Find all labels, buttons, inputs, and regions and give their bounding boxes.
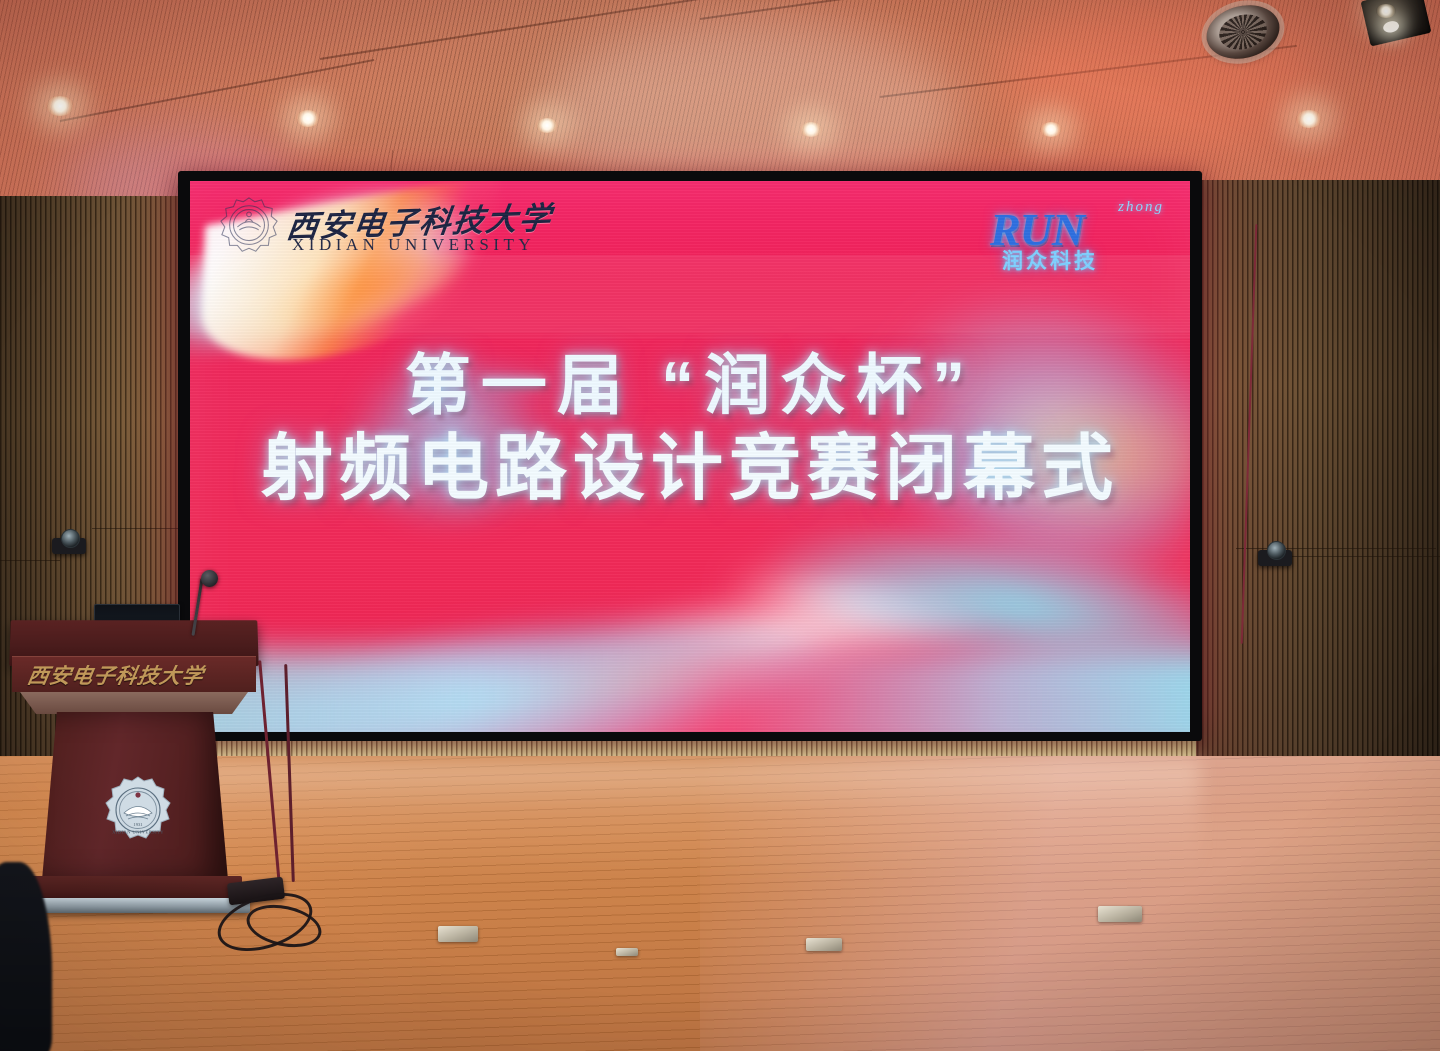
- screen-title-line1: 第一届 “润众杯”: [190, 351, 1190, 421]
- xidian-english-name: XIDIAN UNIVERSITY: [292, 235, 535, 255]
- floor-outlet: [1098, 906, 1142, 922]
- track-spotlight-fixture: [1361, 0, 1432, 46]
- floor-outlet: [438, 926, 478, 942]
- screen-title-block: 第一届 “润众杯” 射频电路设计竞赛闭幕式: [190, 351, 1190, 507]
- ceiling-downlight: [1296, 110, 1322, 128]
- right-wall-shading: [1192, 180, 1440, 770]
- runzhong-chinese-name: 润众科技: [1002, 245, 1098, 275]
- wall-camera-left: [52, 538, 86, 554]
- ceiling-downlight: [1376, 4, 1396, 18]
- podium-engraved-name: 西安电子科技大学: [26, 660, 236, 688]
- runzhong-logo: RUN zhong 润众科技: [988, 195, 1168, 273]
- ceiling-downlight: [1040, 122, 1062, 137]
- ceiling-downlight: [296, 110, 320, 127]
- podium-emblem-icon: 1931 XIDIAN UNIVERSITY: [102, 775, 174, 847]
- floor-screen-reflection: [190, 760, 1200, 880]
- svg-text:XIDIAN UNIVERSITY: XIDIAN UNIVERSITY: [112, 830, 164, 835]
- ceiling-downlight: [800, 122, 822, 137]
- auditorium-scene: 西安电子科技大学 XIDIAN UNIVERSITY RUN zhong 润众科…: [0, 0, 1440, 1051]
- wall-camera-right: [1258, 550, 1292, 566]
- microphone-capsule-icon: [201, 570, 218, 587]
- podium-plinth: [18, 898, 250, 913]
- screen-title-line2: 射频电路设计竞赛闭幕式: [190, 431, 1190, 507]
- xidian-university-logo: 西安电子科技大学 XIDIAN UNIVERSITY: [212, 191, 492, 269]
- camera-lens-icon: [1267, 541, 1286, 560]
- floor-outlet: [616, 948, 638, 956]
- runzhong-superscript: zhong: [1118, 199, 1164, 216]
- podium-skirt: [20, 692, 248, 714]
- lectern-podium: 西安电子科技大学 1931 XIDIAN UNIVERSITY: [10, 620, 265, 925]
- floor-outlet: [806, 938, 842, 951]
- led-screen[interactable]: 西安电子科技大学 XIDIAN UNIVERSITY RUN zhong 润众科…: [190, 181, 1190, 732]
- screen-swirl-bottom-band: [190, 651, 1190, 732]
- ceiling-downlight: [46, 96, 74, 116]
- svg-text:1931: 1931: [133, 822, 143, 827]
- camera-lens-icon: [61, 529, 80, 548]
- xidian-emblem-icon: [218, 195, 280, 257]
- ceiling-downlight: [536, 118, 558, 133]
